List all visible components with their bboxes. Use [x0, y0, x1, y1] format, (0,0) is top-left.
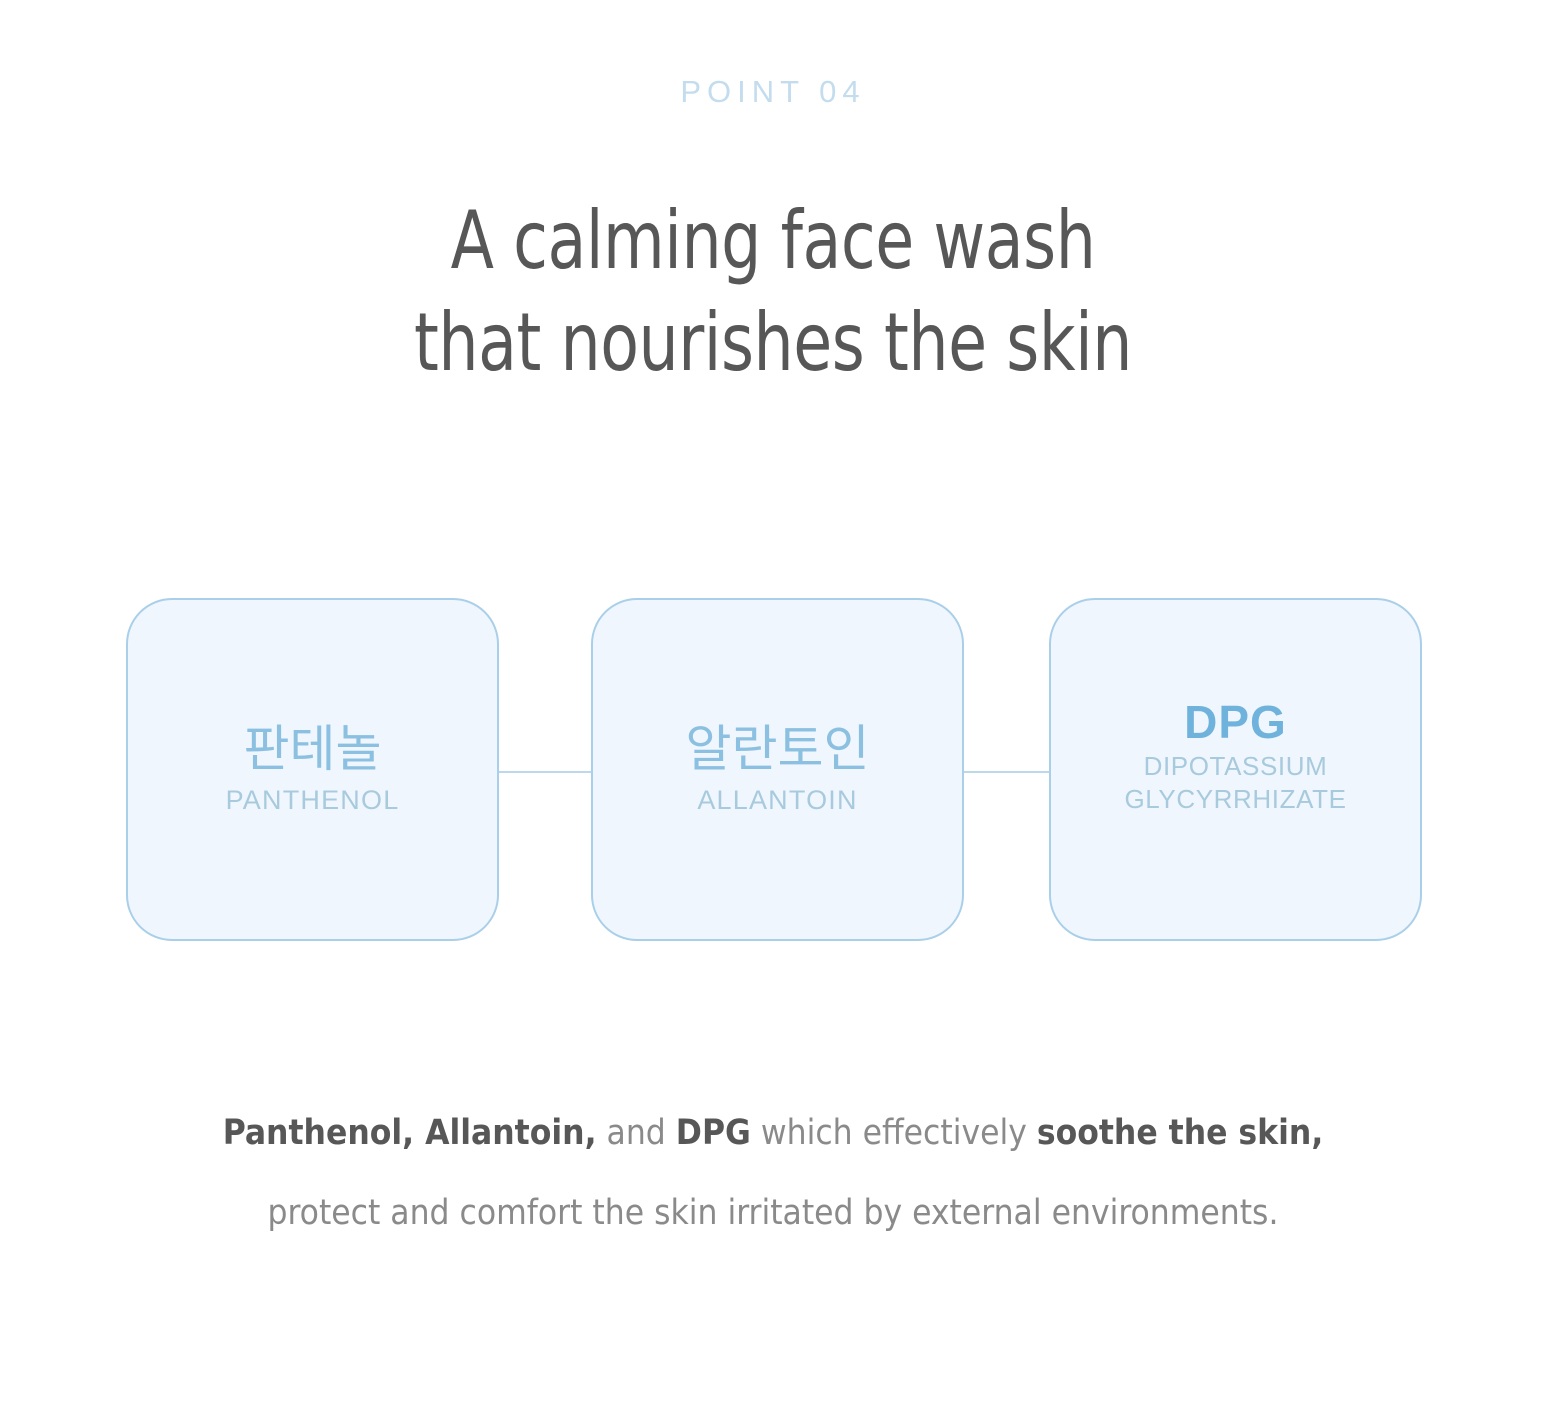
ingredient-box-group: 판테놀 PANTHENOL 알란토인 ALLANTOIN DPG DIPOTAS…: [126, 598, 1422, 941]
connector-line-1: [499, 771, 591, 773]
description-seg-ingredients: Panthenol, Allantoin,: [223, 1113, 597, 1153]
page-title-line-2: that nourishes the skin: [93, 292, 1453, 394]
description-seg-soothe: soothe the skin,: [1037, 1113, 1323, 1153]
point-04-section: POINT 04 A calming face wash that nouris…: [0, 0, 1546, 1428]
description-seg-which-effectively: which effectively: [751, 1113, 1037, 1153]
ingredient-card-allantoin: 알란토인 ALLANTOIN: [591, 598, 964, 941]
description-seg-protect: protect and comfort the skin irritated b…: [268, 1193, 1279, 1233]
description-seg-and: and: [597, 1113, 676, 1153]
connector-line-2: [964, 771, 1049, 773]
point-label: POINT 04: [0, 74, 1546, 110]
page-title-line-1: A calming face wash: [93, 190, 1453, 292]
description-line-1: Panthenol, Allantoin, and DPG which effe…: [0, 1094, 1546, 1174]
ingredient-title-korean: 판테놀: [244, 722, 382, 776]
description-line-2: protect and comfort the skin irritated b…: [0, 1174, 1546, 1254]
ingredient-subtitle-english: DIPOTASSIUM GLYCYRRHIZATE: [1124, 750, 1346, 817]
ingredient-card-panthenol: 판테놀 PANTHENOL: [126, 598, 499, 941]
ingredient-subtitle-english: PANTHENOL: [226, 784, 400, 818]
ingredient-subtitle-english: ALLANTOIN: [697, 784, 857, 818]
ingredient-card-dpg: DPG DIPOTASSIUM GLYCYRRHIZATE: [1049, 598, 1422, 941]
ingredient-title-abbreviation: DPG: [1184, 698, 1287, 748]
ingredient-title-korean: 알란토인: [686, 722, 870, 776]
description-seg-dpg: DPG: [676, 1113, 751, 1153]
description-text: Panthenol, Allantoin, and DPG which effe…: [0, 1094, 1546, 1254]
page-title: A calming face wash that nourishes the s…: [93, 190, 1453, 395]
